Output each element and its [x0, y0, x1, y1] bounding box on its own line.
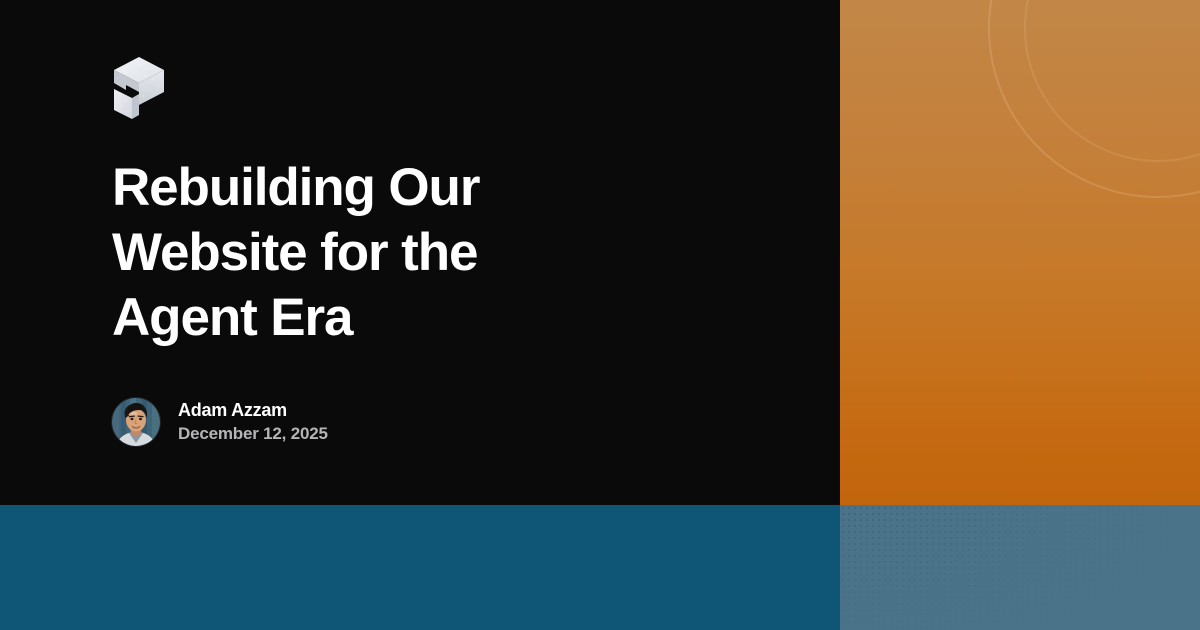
decorative-ring-outer [988, 0, 1200, 198]
byline: Adam Azzam December 12, 2025 [112, 398, 328, 446]
publish-date: December 12, 2025 [178, 424, 328, 444]
prefect-cube-logo-icon [112, 56, 166, 120]
decorative-rings-group [840, 0, 1200, 505]
author-name: Adam Azzam [178, 400, 328, 421]
page-title: Rebuilding Our Website for the Agent Era [112, 155, 732, 350]
card-content: Rebuilding Our Website for the Agent Era [112, 0, 752, 505]
decorative-ring-inner [1024, 0, 1200, 162]
blue-bottom-strip [0, 505, 840, 630]
byline-text: Adam Azzam December 12, 2025 [178, 400, 328, 443]
orange-gradient-panel [840, 0, 1200, 505]
avatar [112, 398, 160, 446]
social-share-card: Rebuilding Our Website for the Agent Era [0, 0, 1200, 630]
blue-bottom-strip-light [840, 505, 1200, 630]
